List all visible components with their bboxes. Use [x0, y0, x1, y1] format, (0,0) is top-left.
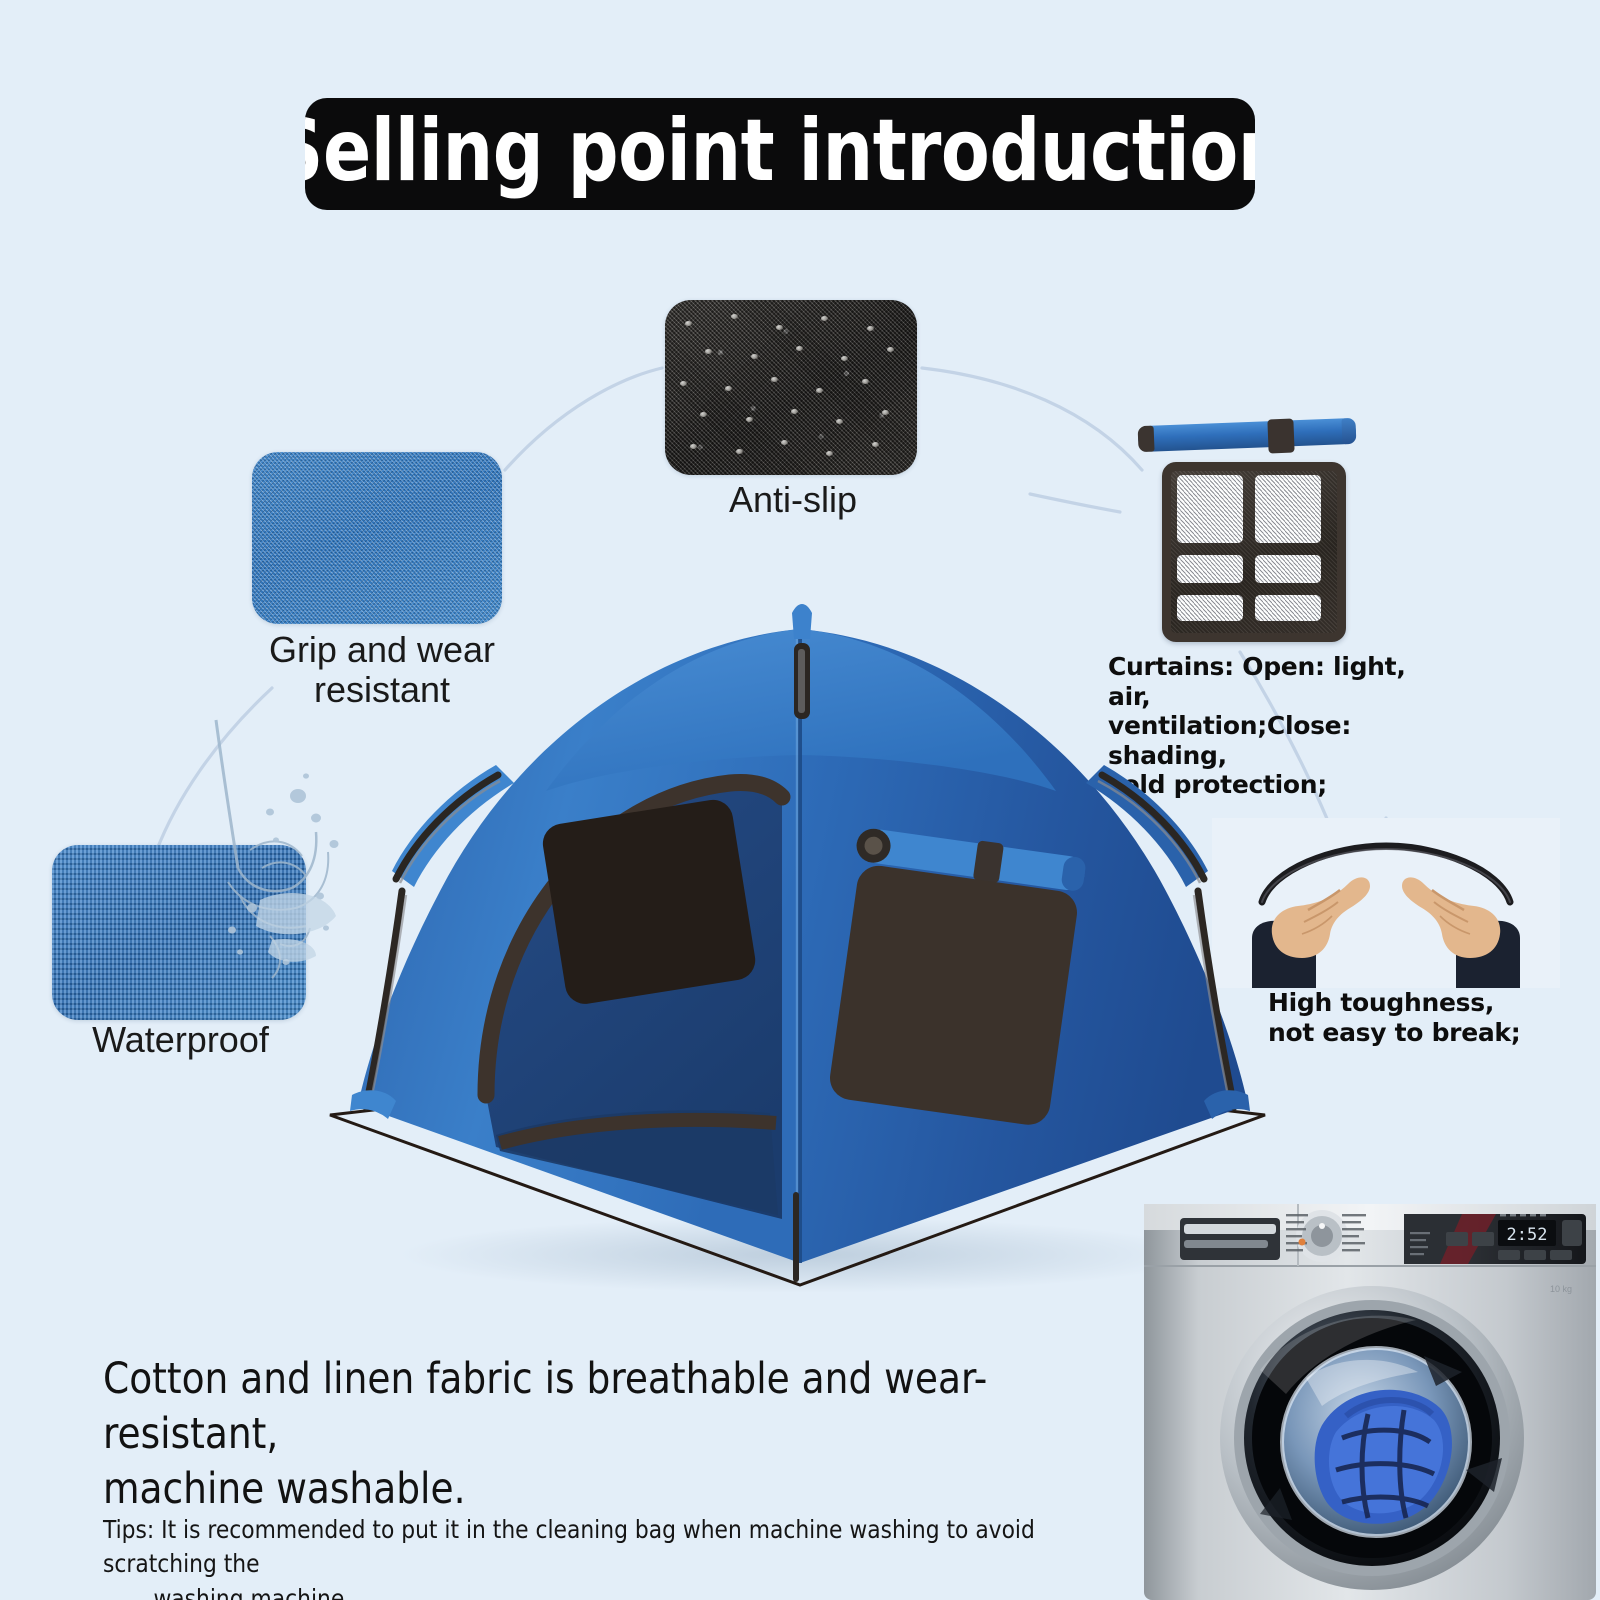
- svg-text:10 kg: 10 kg: [1550, 1284, 1572, 1294]
- page-title-banner: Selling point introduction: [305, 98, 1255, 210]
- label-anti-slip: Anti-slip: [668, 480, 918, 520]
- bottom-tip: Tips: It is recommended to put it in the…: [103, 1478, 1054, 1600]
- curtain-strap: [1267, 419, 1294, 454]
- arc-grip-to-waterproof: [156, 688, 272, 852]
- arc-curtain-tail: [1030, 494, 1120, 512]
- infographic-page: Selling point introduction Grip and wear…: [0, 0, 1600, 1600]
- arc-antislip-to-curtain: [922, 368, 1142, 470]
- bottom-tip-line2: washing machine.: [103, 1582, 1054, 1600]
- photo-washing-machine: 2:52 10 kg: [1110, 1170, 1600, 1600]
- swatch-anti-slip: [665, 300, 917, 475]
- bottom-tip-line1: Tips: It is recommended to put it in the…: [103, 1515, 1035, 1579]
- label-waterproof: Waterproof: [48, 1020, 313, 1060]
- washer-display-value: 2:52: [1507, 1225, 1548, 1245]
- rolled-curtain: [1138, 418, 1357, 452]
- label-high-toughness: High toughness, not easy to break;: [1268, 988, 1538, 1047]
- page-title: Selling point introduction: [305, 108, 1255, 200]
- anti-slip-dots: [665, 300, 917, 475]
- arc-grip-to-antislip: [505, 368, 662, 470]
- swatch-waterproof: [52, 845, 306, 1020]
